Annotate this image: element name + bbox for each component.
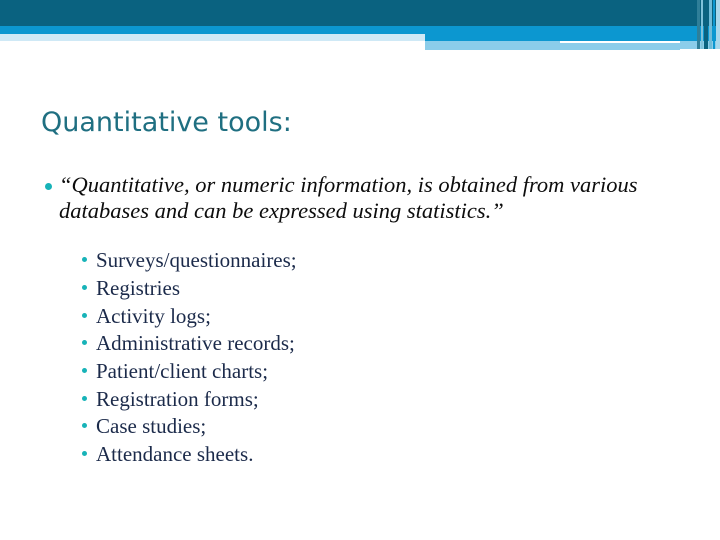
header-band-dark xyxy=(0,0,720,26)
bullet-dot-icon xyxy=(82,368,87,373)
list-item: Case studies; xyxy=(79,413,691,440)
list-item-label: Activity logs; xyxy=(96,303,691,330)
list-item: Registries xyxy=(79,275,691,302)
list-item-label: Registration forms; xyxy=(96,386,691,413)
quote-bullet-row: “Quantitative, or numeric information, i… xyxy=(41,172,691,223)
bullet-dot-icon xyxy=(82,285,87,290)
list-item: Patient/client charts; xyxy=(79,358,691,385)
sub-bullet-icon xyxy=(79,330,96,345)
list-item-label: Patient/client charts; xyxy=(96,358,691,385)
page-title: Quantitative tools: xyxy=(41,107,292,138)
slide-body: “Quantitative, or numeric information, i… xyxy=(41,172,691,469)
bullet-dot-icon xyxy=(82,257,87,262)
list-item: Surveys/questionnaires; xyxy=(79,247,691,274)
sub-bullet-icon xyxy=(79,413,96,428)
list-item-label: Attendance sheets. xyxy=(96,441,691,468)
bullet-dot-icon xyxy=(45,183,52,190)
header-band-pale-left xyxy=(0,34,425,41)
list-item: Attendance sheets. xyxy=(79,441,691,468)
bullet-icon xyxy=(41,172,59,190)
list-item-label: Registries xyxy=(96,275,691,302)
sub-bullet-icon xyxy=(79,441,96,456)
sub-bullet-icon xyxy=(79,247,96,262)
slide: Quantitative tools: “Quantitative, or nu… xyxy=(0,0,720,540)
header-band-pale-right-lower xyxy=(425,45,680,50)
list-item: Registration forms; xyxy=(79,386,691,413)
sub-bullet-icon xyxy=(79,275,96,290)
header-decoration xyxy=(0,0,720,60)
list-item: Administrative records; xyxy=(79,330,691,357)
bullet-dot-icon xyxy=(82,423,87,428)
list-item-label: Administrative records; xyxy=(96,330,691,357)
sub-bullet-icon xyxy=(79,303,96,318)
sub-bullet-list: Surveys/questionnaires; Registries Activ… xyxy=(79,247,691,467)
sub-bullet-icon xyxy=(79,386,96,401)
header-stripe-mask-lower xyxy=(686,50,720,60)
header-hairline xyxy=(560,41,680,43)
list-item-label: Surveys/questionnaires; xyxy=(96,247,691,274)
bullet-dot-icon xyxy=(82,313,87,318)
bullet-dot-icon xyxy=(82,340,87,345)
list-item: Activity logs; xyxy=(79,303,691,330)
bullet-dot-icon xyxy=(82,396,87,401)
list-item-label: Case studies; xyxy=(96,413,691,440)
quote-text: “Quantitative, or numeric information, i… xyxy=(59,172,676,223)
bullet-dot-icon xyxy=(82,451,87,456)
sub-bullet-icon xyxy=(79,358,96,373)
header-band-blue-right xyxy=(425,26,720,41)
